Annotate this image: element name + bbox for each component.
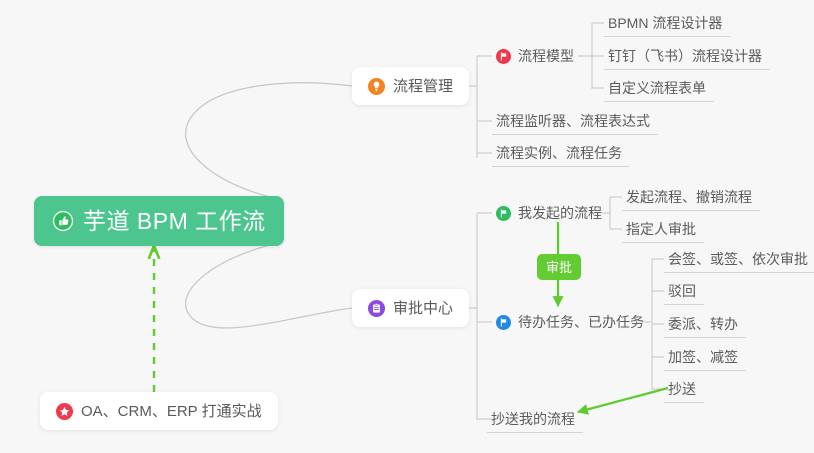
node-label: 审批中心: [393, 301, 453, 316]
lightbulb-icon: [368, 78, 385, 95]
node-cc-to-me-process[interactable]: 抄送我的流程: [487, 405, 583, 433]
node-label: 自定义流程表单: [608, 81, 706, 95]
node-approval-center[interactable]: 审批中心: [352, 289, 469, 327]
node-add-remove-sign[interactable]: 加签、减签: [664, 343, 746, 371]
node-process-listener-expression[interactable]: 流程监听器、流程表达式: [492, 107, 658, 135]
approval-tag-label: 审批: [546, 261, 572, 274]
node-label: OA、CRM、ERP 打通实战: [81, 404, 262, 419]
node-label: 加签、减签: [668, 350, 738, 364]
node-label: 流程管理: [393, 79, 453, 94]
node-label: 抄送: [668, 382, 696, 396]
flag-icon: [496, 206, 511, 221]
root-label: 芋道 BPM 工作流: [83, 210, 266, 233]
flag-icon: [496, 49, 511, 64]
node-oa-crm-erp[interactable]: OA、CRM、ERP 打通实战: [40, 392, 278, 430]
node-assignee-approval[interactable]: 指定人审批: [622, 215, 704, 243]
node-dingtalk-feishu-designer[interactable]: 钉钉（飞书）流程设计器: [604, 42, 770, 70]
root-node[interactable]: 芋道 BPM 工作流: [34, 196, 284, 246]
node-label: 抄送我的流程: [491, 412, 575, 426]
node-custom-process-form[interactable]: 自定义流程表单: [604, 74, 714, 102]
mindmap-canvas: 芋道 BPM 工作流 流程管理 流程模型 BPMN 流程设计器 钉钉（飞书: [0, 0, 814, 453]
flag-icon: [496, 315, 511, 330]
node-label: 我发起的流程: [518, 206, 602, 220]
node-todo-done-tasks[interactable]: 待办任务、已办任务: [492, 308, 652, 336]
node-label: BPMN 流程设计器: [608, 16, 722, 30]
node-label: 委派、转办: [668, 317, 738, 331]
thumbs-up-icon: [52, 210, 74, 232]
node-process-management[interactable]: 流程管理: [352, 67, 469, 105]
node-start-cancel-process[interactable]: 发起流程、撤销流程: [622, 183, 760, 211]
node-process-instance-task[interactable]: 流程实例、流程任务: [492, 139, 630, 167]
node-delegate-transfer[interactable]: 委派、转办: [664, 310, 746, 338]
node-bpmn-designer[interactable]: BPMN 流程设计器: [604, 9, 730, 37]
node-label: 流程监听器、流程表达式: [496, 114, 650, 128]
node-label: 流程实例、流程任务: [496, 146, 622, 160]
node-label: 驳回: [668, 284, 696, 298]
node-label: 待办任务、已办任务: [518, 315, 644, 329]
node-label: 流程模型: [518, 49, 574, 63]
node-label: 发起流程、撤销流程: [626, 190, 752, 204]
node-reject[interactable]: 驳回: [664, 277, 704, 305]
node-label: 会签、或签、依次审批: [668, 252, 808, 266]
node-cc[interactable]: 抄送: [664, 375, 704, 403]
star-icon: [56, 403, 73, 420]
node-label: 钉钉（飞书）流程设计器: [608, 49, 762, 63]
node-countersign-orsign-sequential[interactable]: 会签、或签、依次审批: [664, 245, 814, 273]
node-my-initiated-process[interactable]: 我发起的流程: [492, 199, 610, 227]
node-label: 指定人审批: [626, 222, 696, 236]
approval-tag: 审批: [537, 254, 581, 280]
clipboard-icon: [368, 300, 385, 317]
node-process-model[interactable]: 流程模型: [492, 42, 582, 70]
